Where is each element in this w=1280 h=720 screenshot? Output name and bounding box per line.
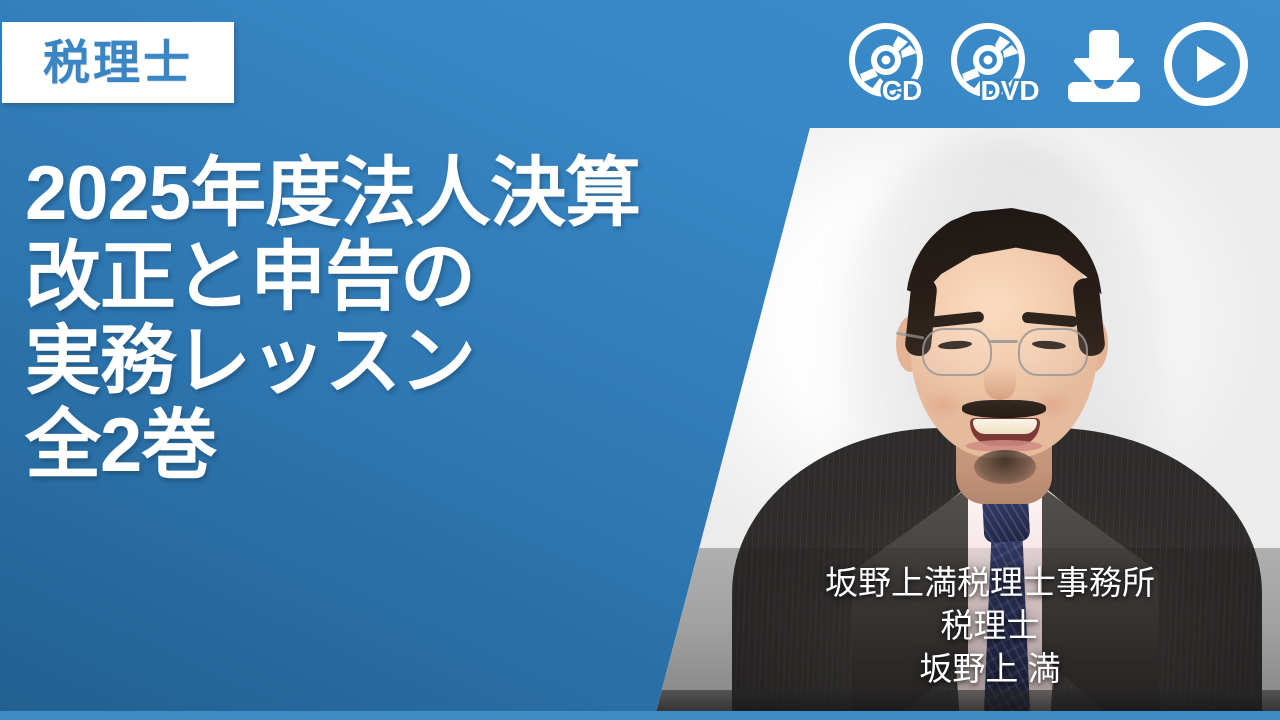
- dvd-icon: DVD: [948, 20, 1048, 108]
- speaker-office: 坂野上満税理士事務所: [710, 562, 1270, 605]
- teeth: [973, 419, 1037, 434]
- category-badge: 税理士: [2, 22, 234, 103]
- speaker-title: 税理士: [710, 605, 1270, 648]
- cd-icon: CD: [844, 20, 936, 108]
- eyeglasses-bridge: [988, 340, 1018, 343]
- play-icon: [1160, 18, 1252, 110]
- chin-beard: [974, 450, 1036, 484]
- eyeglasses-lens-right: [1018, 328, 1088, 376]
- media-format-icons: CD DVD: [844, 20, 1252, 108]
- speaker-name: 坂野上 満: [710, 648, 1270, 691]
- photo-floor-shadow: [610, 690, 1280, 712]
- eyeglasses-lens-left: [922, 328, 992, 376]
- headline-line-3: 実務レッスン: [25, 320, 795, 404]
- moustache: [962, 400, 1046, 418]
- bottom-accent-strip: [0, 711, 1280, 720]
- nose: [984, 366, 1016, 400]
- headline-line-1: 2025年度法人決算: [25, 152, 795, 236]
- cheek-left: [922, 390, 964, 420]
- video-thumbnail: 税理士 2025年度法人決算 改正と申告の 実務レッスン 全2巻: [0, 0, 1280, 720]
- headline-line-4: 全2巻: [25, 404, 795, 488]
- headline-line-2: 改正と申告の: [25, 236, 795, 320]
- dvd-icon-label: DVD: [980, 75, 1039, 106]
- download-icon: [1060, 20, 1148, 108]
- category-badge-label: 税理士: [43, 39, 193, 86]
- cd-icon-label: CD: [882, 75, 922, 106]
- headline-title: 2025年度法人決算 改正と申告の 実務レッスン 全2巻: [25, 152, 795, 488]
- speaker-caption: 坂野上満税理士事務所 税理士 坂野上 満: [710, 562, 1270, 691]
